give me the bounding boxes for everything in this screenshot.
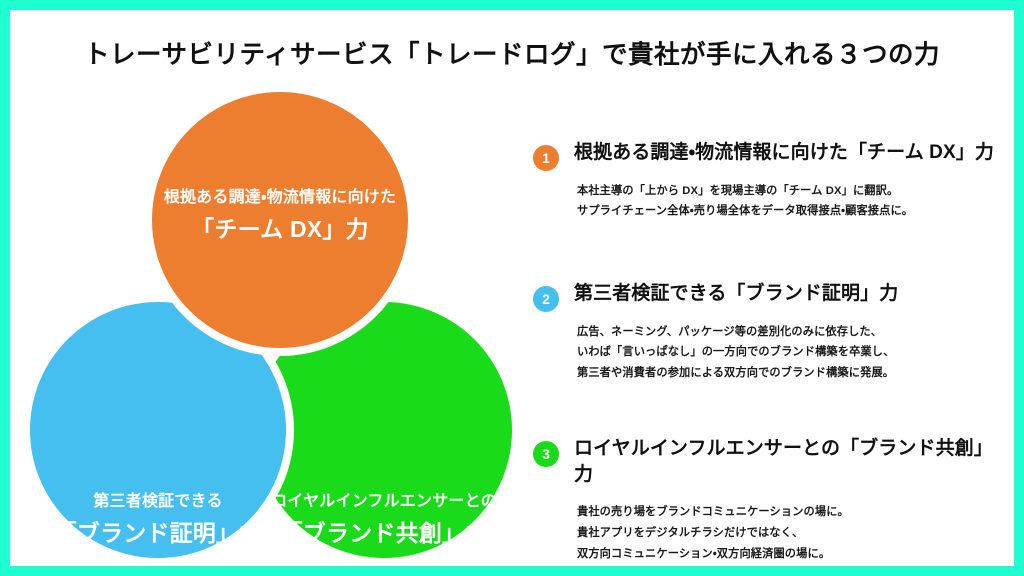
point-title-1: 根拠ある調達・物流情報に向けた「チーム DX」力 (574, 140, 1003, 166)
venn-circle-brand-cocreation-subtitle: ロイヤルインフルエンサーとの (271, 492, 497, 512)
point-body-line: サプライチェーン全体・売り場全体をデータ取得接点・顧客接点に。 (577, 201, 1003, 222)
venn-circle-brand-proof-label: 「ブランド証明」力 (54, 519, 263, 548)
point-body-3: 貴社の売り場をブランドコミュニケーションの場に。 貴社アプリをデジタルチラシだけ… (574, 502, 1003, 564)
slide-canvas: トレーサビリティサービス「トレードログ」で貴社が手に入れる３つの力 根拠ある調達… (0, 0, 1024, 576)
frame-border-right (1014, 0, 1024, 576)
venn-circle-brand-proof-subtitle: 第三者検証できる (54, 492, 263, 512)
venn-circle-brand-cocreation-label: 「ブランド共創」力 (271, 519, 497, 548)
point-body-line: いわば「言いっぱなし」の一方向でのブランド構築を卒業し、 (577, 342, 1003, 363)
point-body-1: 本社主導の「上から DX」を現場主導の「チーム DX」に翻訳。 サプライチェーン… (574, 181, 1003, 222)
venn-diagram: 根拠ある調達・物流情報に向けた 「チーム DX」力 第三者検証できる 「ブランド… (0, 0, 540, 576)
point-number-badge-1: 1 (533, 145, 559, 171)
frame-border-top (0, 0, 1024, 10)
venn-circle-team-dx: 根拠ある調達・物流情報に向けた 「チーム DX」力 (144, 84, 416, 356)
points-list: 1 根拠ある調達・物流情報に向けた「チーム DX」力 本社主導の「上から DX」… (533, 130, 1003, 564)
point-body-line: 双方向コミュニケーション・双方向経済圏の場に。 (577, 544, 1003, 565)
point-body-line: 広告、ネーミング、パッケージ等の差別化のみに依存した、 (577, 322, 1003, 343)
venn-circle-team-dx-subtitle: 根拠ある調達・物流情報に向けた (164, 188, 396, 208)
point-number-badge-2: 2 (533, 286, 559, 312)
point-body-line: 貴社の売り場をブランドコミュニケーションの場に。 (577, 502, 1003, 523)
point-item-2: 2 第三者検証できる「ブランド証明」力 広告、ネーミング、パッケージ等の差別化の… (533, 281, 1003, 384)
point-body-line: 第三者や消費者の参加による双方向でのブランド構築に発展。 (577, 363, 1003, 384)
point-number-badge-3: 3 (533, 441, 559, 467)
point-body-line: 貴社アプリをデジタルチラシだけではなく、 (577, 523, 1003, 544)
point-body-line: 本社主導の「上から DX」を現場主導の「チーム DX」に翻訳。 (577, 181, 1003, 202)
point-title-2: 第三者検証できる「ブランド証明」力 (574, 281, 1003, 307)
point-item-3: 3 ロイヤルインフルエンサーとの「ブランド共創」力 貴社の売り場をブランドコミュ… (533, 436, 1003, 564)
frame-border-bottom (0, 566, 1024, 576)
point-item-1: 1 根拠ある調達・物流情報に向けた「チーム DX」力 本社主導の「上から DX」… (533, 140, 1003, 222)
frame-border-left (0, 0, 10, 576)
point-title-3: ロイヤルインフルエンサーとの「ブランド共創」力 (574, 436, 1003, 487)
page-title: トレーサビリティサービス「トレードログ」で貴社が手に入れる３つの力 (0, 34, 1024, 71)
point-body-2: 広告、ネーミング、パッケージ等の差別化のみに依存した、 いわば「言いっぱなし」の… (574, 322, 1003, 384)
venn-circle-team-dx-label: 「チーム DX」力 (164, 215, 396, 244)
